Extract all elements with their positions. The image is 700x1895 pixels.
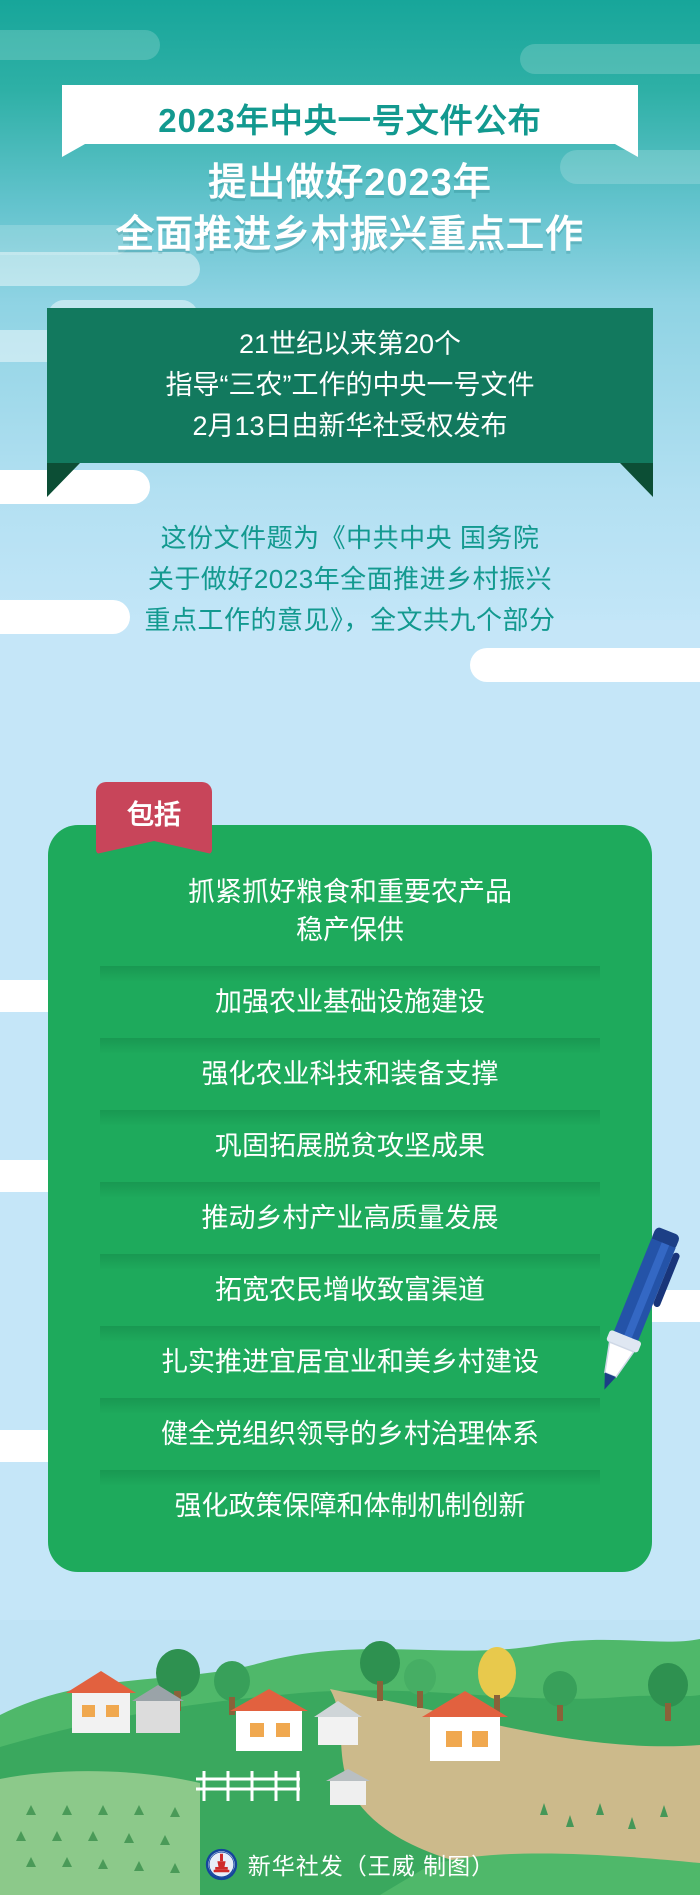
includes-tag-label: 包括: [127, 793, 181, 832]
list-item-line: 推动乡村产业高质量发展: [62, 1199, 638, 1237]
cloud-bar-decor: [520, 44, 700, 74]
ribbon-title: 2023年中央一号文件公布: [158, 94, 541, 142]
cloud-bar-decor: [0, 30, 160, 60]
list-item-line: 健全党组织领导的乡村治理体系: [62, 1415, 638, 1453]
list-item-line: 稳产保供: [62, 911, 638, 949]
list-item: 强化农业科技和装备支撑: [48, 1038, 652, 1110]
page-title: 提出做好2023年 全面推进乡村振兴重点工作: [0, 157, 700, 261]
intro-banner: 21世纪以来第20个 指导“三农”工作的中央一号文件 2月13日由新华社受权发布: [47, 308, 653, 463]
footer-credit: 新华社发（王威 制图）: [0, 1847, 700, 1881]
banner-line-1: 21世纪以来第20个: [166, 324, 535, 365]
list-item: 巩固拓展脱贫攻坚成果: [48, 1110, 652, 1182]
list-item: 强化政策保障和体制机制创新: [48, 1470, 652, 1542]
list-item-line: 巩固拓展脱贫攻坚成果: [62, 1127, 638, 1165]
list-item: 推动乡村产业高质量发展: [48, 1182, 652, 1254]
list-item: 拓宽农民增收致富渠道: [48, 1254, 652, 1326]
list-item-line: 加强农业基础设施建设: [62, 983, 638, 1021]
cloud-bar-decor: [0, 470, 150, 504]
list-item: 扎实推进宜居宜业和美乡村建设: [48, 1326, 652, 1398]
credit-text: 新华社发（王威 制图）: [248, 1847, 495, 1881]
list-item-line: 拓宽农民增收致富渠道: [62, 1271, 638, 1309]
description-line-1: 这份文件题为《中共中央 国务院: [0, 518, 700, 559]
cloud-bar-decor: [470, 648, 700, 682]
description-line-2: 关于做好2023年全面推进乡村振兴: [0, 559, 700, 600]
xinhua-logo-icon: [205, 1848, 238, 1881]
description-line-3: 重点工作的意见》，全文共九个部分: [0, 600, 700, 641]
banner-line-2: 指导“三农”工作的中央一号文件: [166, 365, 535, 406]
intro-banner-text: 21世纪以来第20个 指导“三农”工作的中央一号文件 2月13日由新华社受权发布: [166, 324, 535, 447]
list-item-line: 扎实推进宜居宜业和美乡村建设: [62, 1343, 638, 1381]
list-item: 抓紧抓好粮食和重要农产品稳产保供: [48, 851, 652, 966]
pen-icon: [572, 1218, 692, 1398]
list-item: 健全党组织领导的乡村治理体系: [48, 1398, 652, 1470]
list-item-line: 强化政策保障和体制机制创新: [62, 1487, 638, 1525]
banner-line-3: 2月13日由新华社受权发布: [166, 406, 535, 447]
list-item-line: 抓紧抓好粮食和重要农产品: [62, 873, 638, 911]
list-item-line: 强化农业科技和装备支撑: [62, 1055, 638, 1093]
infographic-poster: 2023年中央一号文件公布 提出做好2023年 全面推进乡村振兴重点工作 21世…: [0, 0, 700, 1895]
list-item: 加强农业基础设施建设: [48, 966, 652, 1038]
document-description: 这份文件题为《中共中央 国务院 关于做好2023年全面推进乡村振兴 重点工作的意…: [0, 518, 700, 641]
headline-line-1: 提出做好2023年: [0, 157, 700, 209]
topics-card: 抓紧抓好粮食和重要农产品稳产保供加强农业基础设施建设强化农业科技和装备支撑巩固拓…: [48, 825, 652, 1572]
headline-line-2: 全面推进乡村振兴重点工作: [0, 209, 700, 261]
village-landscape-illustration: [0, 1565, 700, 1895]
